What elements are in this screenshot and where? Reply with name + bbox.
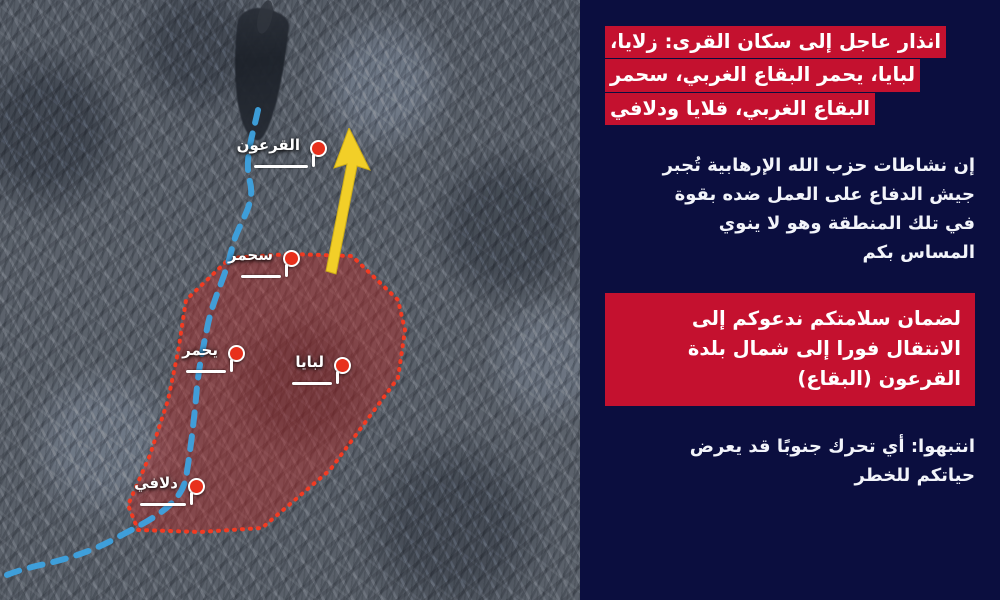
body-line-3: في تلك المنطقة وهو لا ينوي [605, 209, 975, 238]
marker-label-qaraoun: القرعون [237, 136, 300, 154]
southward-movement-warning: انتبهوا: أي تحرك جنوبًا قد يعرض حياتكم ل… [605, 432, 975, 490]
footer-line-2: حياتكم للخطر [605, 461, 975, 490]
satellite-map-panel[interactable]: القرعون سحمر يحمر لبايا دلافي [0, 0, 580, 600]
marker-stem [285, 264, 288, 277]
instruction-line-2: الانتقال فورا إلى شمال بلدة [619, 334, 961, 364]
marker-stem [230, 359, 233, 372]
marker-label-libbaya: لبايا [295, 353, 324, 371]
headline-line-3: البقاع الغربي، قلايا ودلافي [605, 93, 875, 125]
instruction-line-3: القرعون (البقاع) [619, 364, 961, 394]
marker-label-dalafi: دلافي [134, 474, 178, 492]
headline-line-1: انذار عاجل إلى سكان القرى: زلايا، [605, 26, 946, 58]
instruction-line-1: لضمان سلامتكم ندعوكم إلى [619, 304, 961, 334]
marker-leader-line [241, 275, 281, 278]
body-line-4: المساس بكم [605, 238, 975, 267]
body-line-2: جيش الدفاع على العمل ضده بقوة [605, 180, 975, 209]
warning-text-panel: انذار عاجل إلى سكان القرى: زلايا، لبايا،… [580, 0, 1000, 600]
marker-label-sohmor: سحمر [228, 246, 273, 264]
evacuation-instruction-box: لضمان سلامتكم ندعوكم إلى الانتقال فورا إ… [605, 293, 975, 406]
headline-line-2: لبايا، يحمر البقاع الغربي، سحمر [605, 59, 920, 91]
danger-zone-overlay [0, 0, 580, 600]
body-line-1: إن نشاطات حزب الله الإرهابية تُجبر [605, 151, 975, 180]
marker-stem [190, 492, 193, 505]
marker-leader-line [186, 370, 226, 373]
marker-label-yohmor: يحمر [182, 341, 218, 359]
marker-leader-line [254, 165, 308, 168]
marker-leader-line [140, 503, 186, 506]
footer-line-1: انتبهوا: أي تحرك جنوبًا قد يعرض [605, 432, 975, 461]
marker-stem [312, 154, 315, 167]
marker-stem [336, 371, 339, 384]
marker-leader-line [292, 382, 332, 385]
urgent-warning-headline: انذار عاجل إلى سكان القرى: زلايا، لبايا،… [605, 26, 975, 125]
evacuation-warning-graphic: القرعون سحمر يحمر لبايا دلافي [0, 0, 1000, 600]
hezbollah-activity-paragraph: إن نشاطات حزب الله الإرهابية تُجبر جيش ا… [605, 151, 975, 268]
